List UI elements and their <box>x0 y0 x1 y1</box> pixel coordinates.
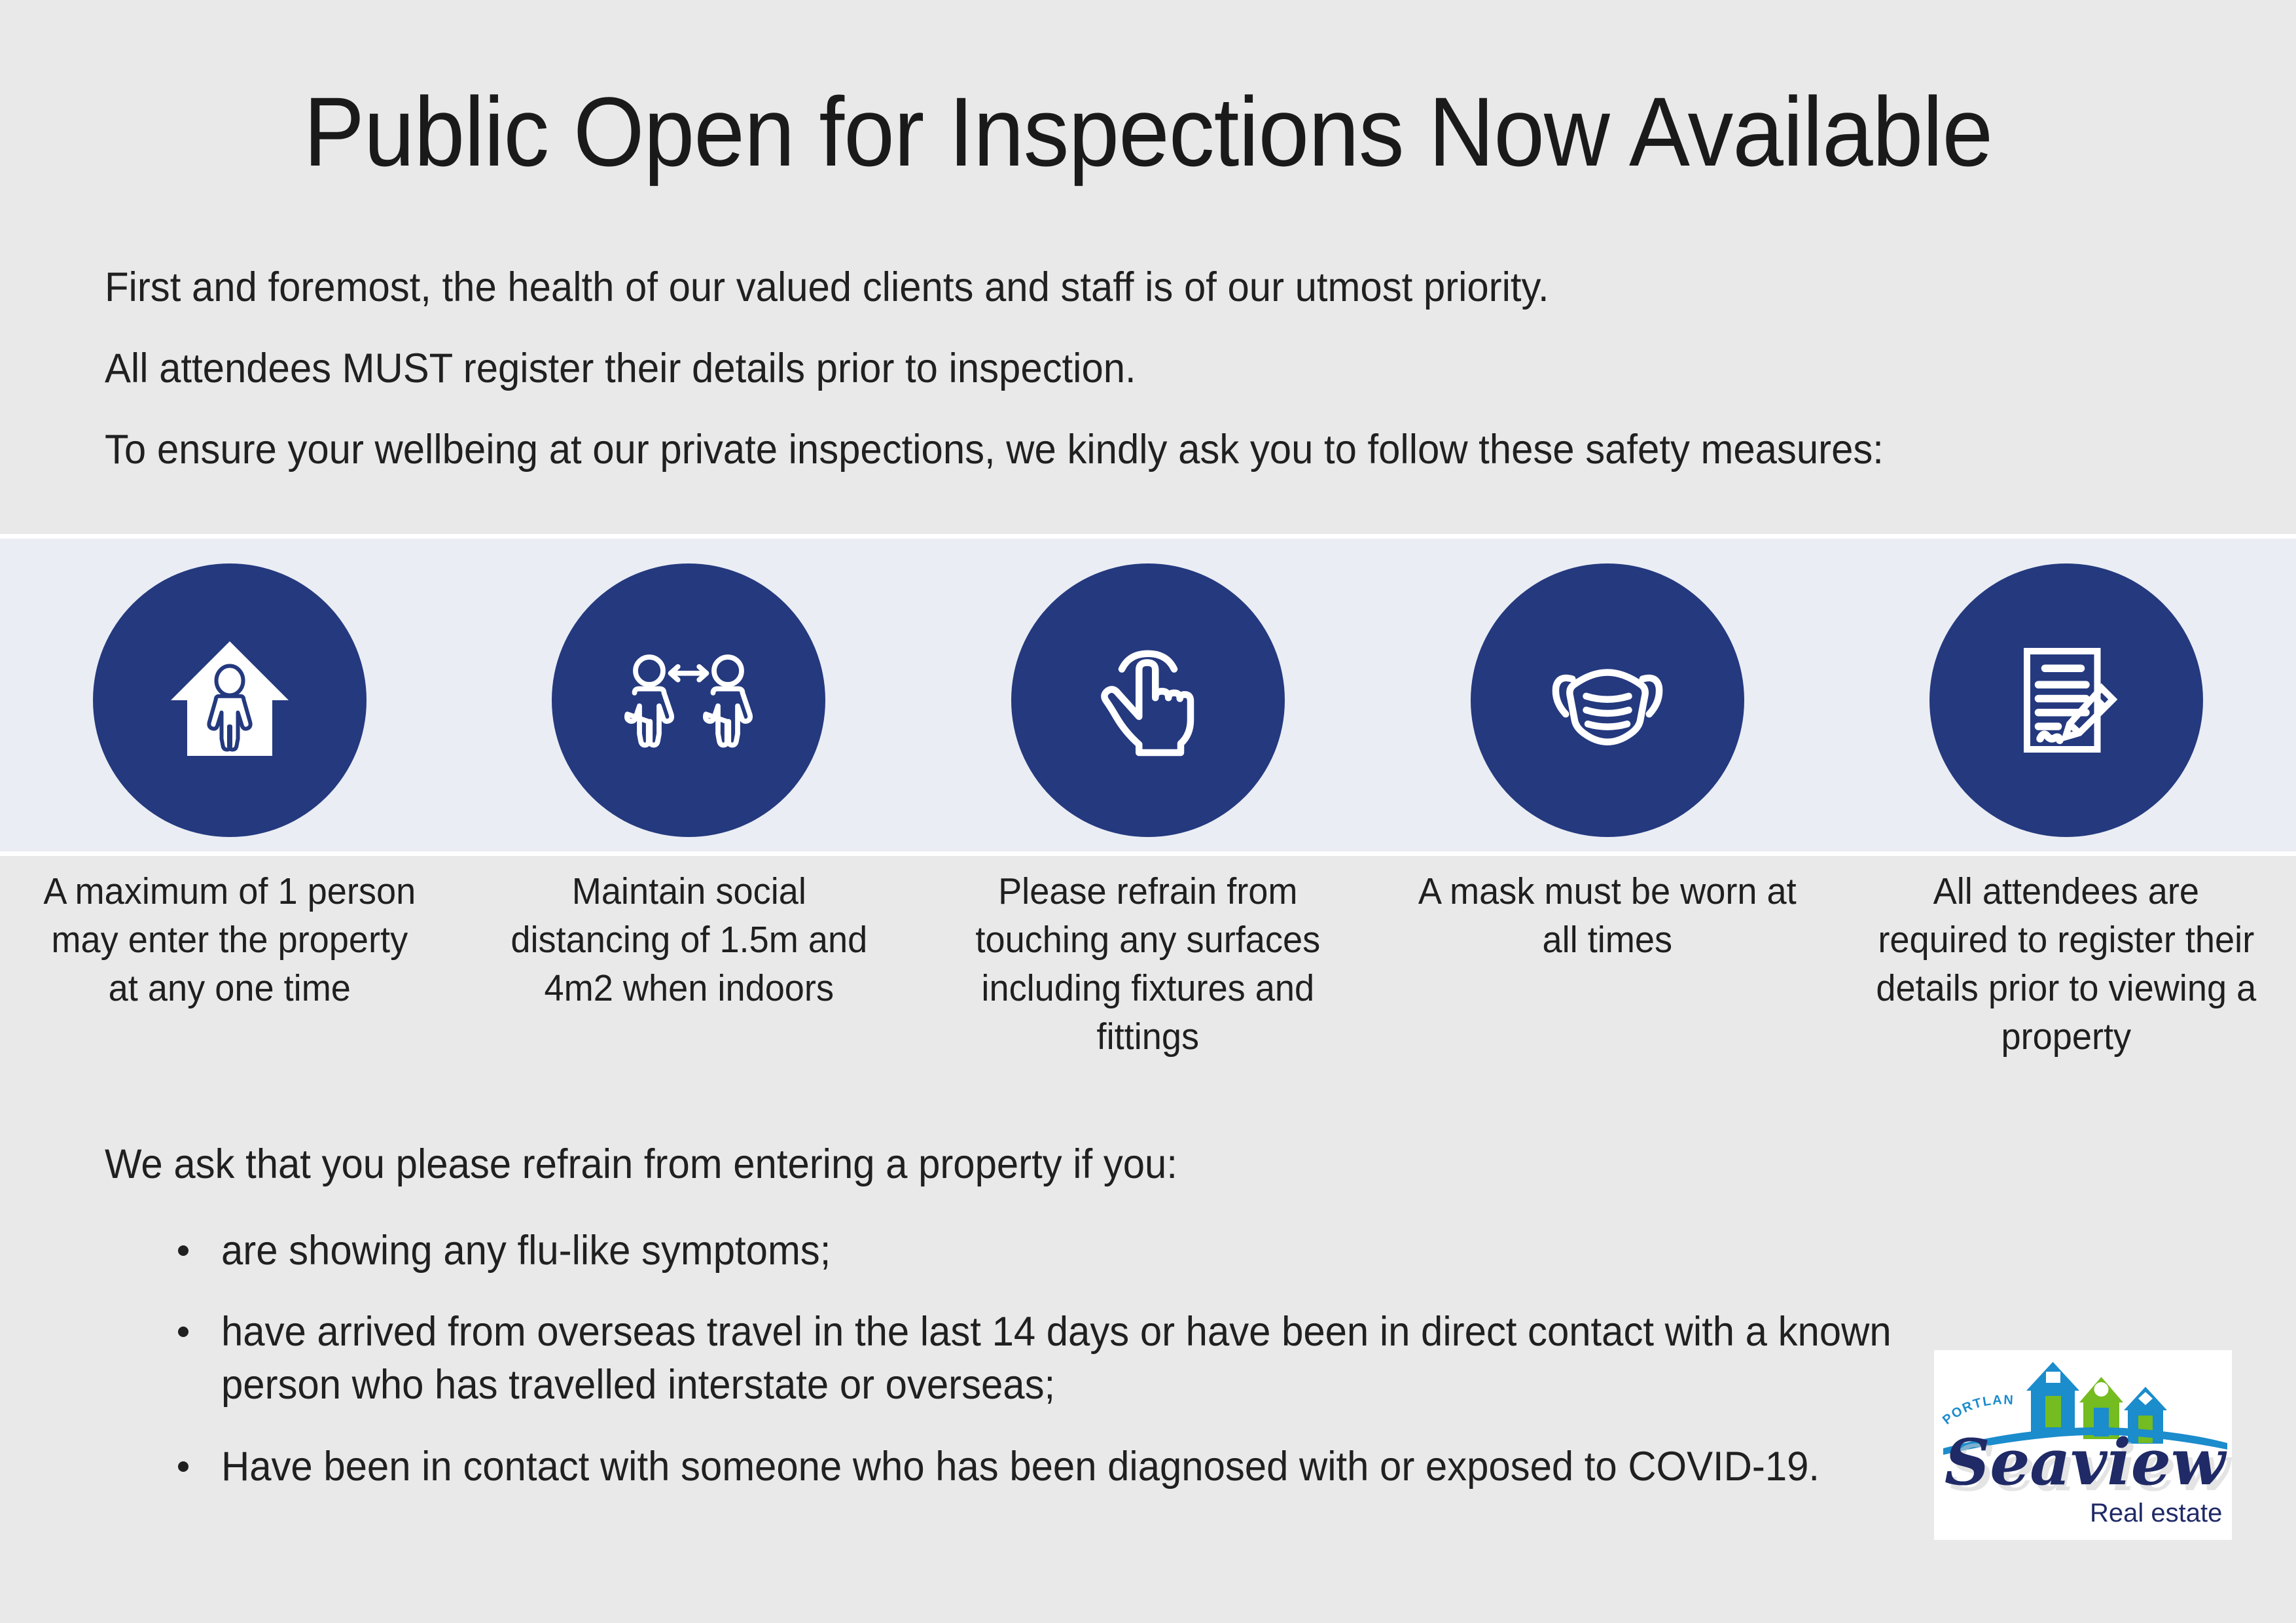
intro-line-1: First and foremost, the health of our va… <box>105 262 2032 313</box>
logo-tagline-text: Real estate <box>2090 1499 2222 1527</box>
bullet-dot-icon <box>178 1327 188 1337</box>
measure-item-4 <box>1378 563 1837 837</box>
measure-item-3 <box>918 563 1378 837</box>
poster-root: Public Open for Inspections Now Availabl… <box>0 0 2296 1623</box>
measure-caption-4: A mask must be worn at all times <box>1412 867 1803 964</box>
measure-caption-2: Maintain social distancing of 1.5m and 4… <box>493 867 884 1012</box>
caption-cell-5: All attendees are required to register t… <box>1837 867 2296 1061</box>
caption-cell-3: Please refrain from touching any surface… <box>918 867 1378 1061</box>
caption-cell-4: A mask must be worn at all times <box>1378 867 1837 964</box>
svg-text:Seaview: Seaview <box>1945 1425 2227 1499</box>
measure-caption-3: Please refrain from touching any surface… <box>952 867 1344 1061</box>
icon-badge-2 <box>552 563 825 837</box>
exclusion-block: We ask that you please refrain from ente… <box>105 1139 2153 1522</box>
no-touching-hand-icon <box>1066 618 1230 782</box>
social-distancing-icon <box>607 618 770 782</box>
bullet-dot-icon <box>178 1245 188 1256</box>
face-mask-icon <box>1526 618 1689 782</box>
icon-badge-5 <box>1929 563 2203 837</box>
document-pencil-register-icon <box>1984 618 2148 782</box>
caption-cell-2: Maintain social distancing of 1.5m and 4… <box>459 867 919 1012</box>
caption-cell-1: A maximum of 1 person may enter the prop… <box>0 867 459 1012</box>
icon-badge-1 <box>93 563 367 837</box>
safety-icon-row <box>0 560 2296 841</box>
exclusion-bullet-2: have arrived from overseas travel in the… <box>221 1306 1914 1411</box>
icon-badge-3 <box>1011 563 1285 837</box>
person-in-house-icon <box>148 618 312 782</box>
intro-line-2: All attendees MUST register their detail… <box>105 343 2032 395</box>
measure-item-2 <box>459 563 919 837</box>
measure-item-1 <box>0 563 459 837</box>
safety-caption-row: A maximum of 1 person may enter the prop… <box>0 867 2296 1061</box>
exclusion-bullet-3: Have been in contact with someone who ha… <box>221 1440 1914 1493</box>
measure-caption-1: A maximum of 1 person may enter the prop… <box>34 867 425 1012</box>
measure-item-5 <box>1837 563 2296 837</box>
list-item: Have been in contact with someone who ha… <box>105 1440 2003 1493</box>
icon-badge-4 <box>1471 563 1744 837</box>
intro-block: First and foremost, the health of our va… <box>105 262 2134 505</box>
exclusion-bullet-list: are showing any flu-like symptoms; have … <box>105 1224 2153 1493</box>
list-item: are showing any flu-like symptoms; <box>105 1224 2003 1277</box>
list-item: have arrived from overseas travel in the… <box>105 1306 2003 1411</box>
intro-line-3: To ensure your wellbeing at our private … <box>105 424 2032 476</box>
bullet-dot-icon <box>178 1461 188 1472</box>
exclusion-lead: We ask that you please refrain from ente… <box>105 1139 2051 1190</box>
company-logo: PORTLAND Seaview Seaview Seaview Real es… <box>1934 1350 2232 1540</box>
page-title: Public Open for Inspections Now Availabl… <box>81 79 2215 185</box>
exclusion-bullet-1: are showing any flu-like symptoms; <box>221 1224 1914 1277</box>
measure-caption-5: All attendees are required to register t… <box>1871 867 2262 1061</box>
